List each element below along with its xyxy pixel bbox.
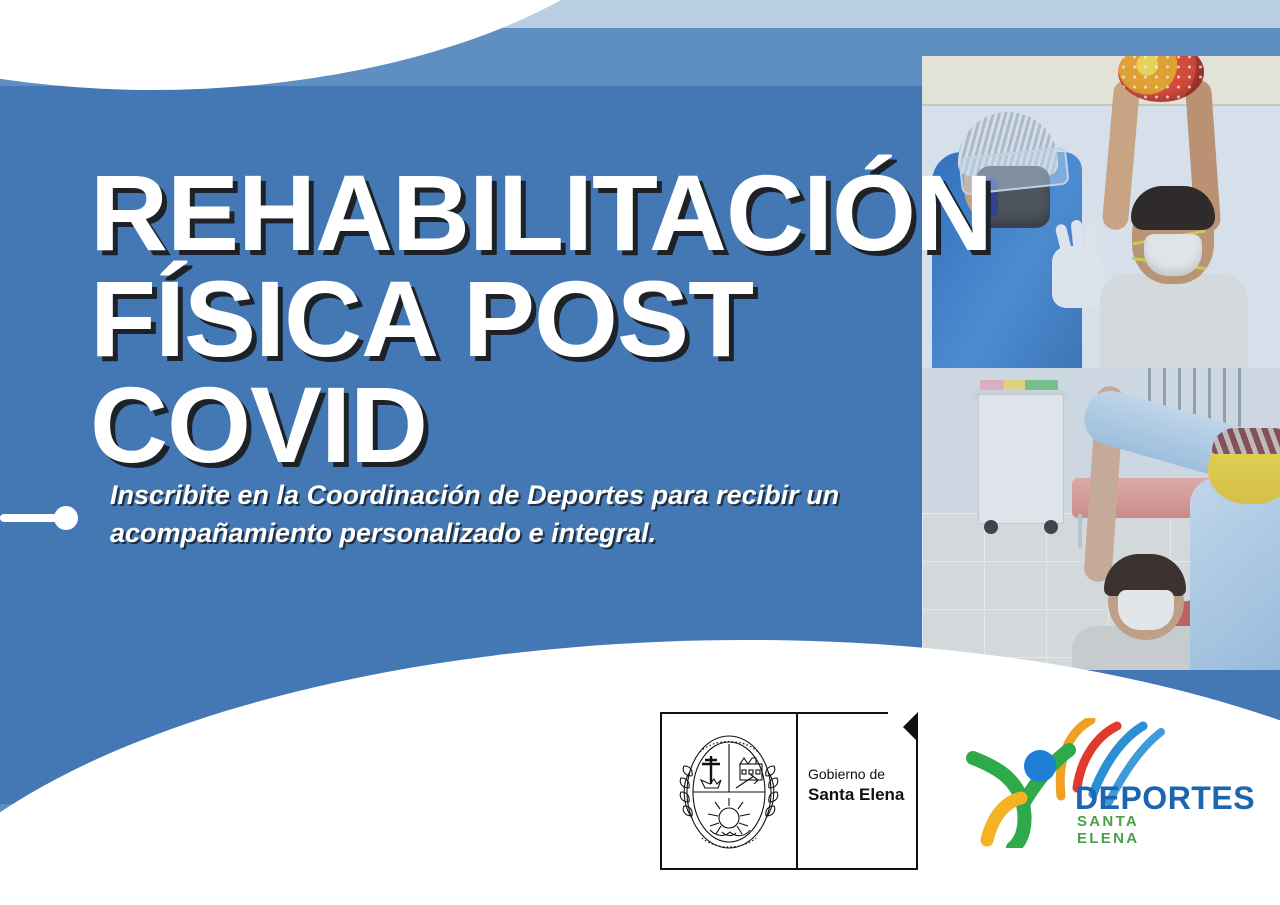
- page-title: REHABILITACIÓN FÍSICA POST COVID: [90, 160, 1100, 477]
- gobierno-logo-text: Gobierno de Santa Elena: [808, 766, 914, 805]
- gobierno-logo-line2: Santa Elena: [808, 784, 914, 805]
- gobierno-logo-line1: Gobierno de: [808, 766, 914, 784]
- santa-elena-coat-of-arms-icon: [670, 726, 788, 858]
- poster-canvas: REHABILITACIÓN FÍSICA POST COVID Inscrib…: [0, 0, 1280, 905]
- deportes-wordmark: DEPORTES: [1075, 780, 1255, 817]
- page-fold-corner-highlight: [888, 712, 918, 742]
- subtitle-text: Inscribite en la Coordinación de Deporte…: [110, 476, 950, 553]
- deportes-santa-elena-logo: DEPORTES SANTA ELENA: [965, 718, 1195, 848]
- deportes-subwordmark: SANTA ELENA: [1077, 813, 1195, 847]
- bullet-line: [0, 514, 62, 522]
- gobierno-de-santa-elena-logo: Gobierno de Santa Elena: [660, 712, 918, 870]
- logo-divider: [796, 714, 798, 868]
- bullet-dot: [54, 506, 78, 530]
